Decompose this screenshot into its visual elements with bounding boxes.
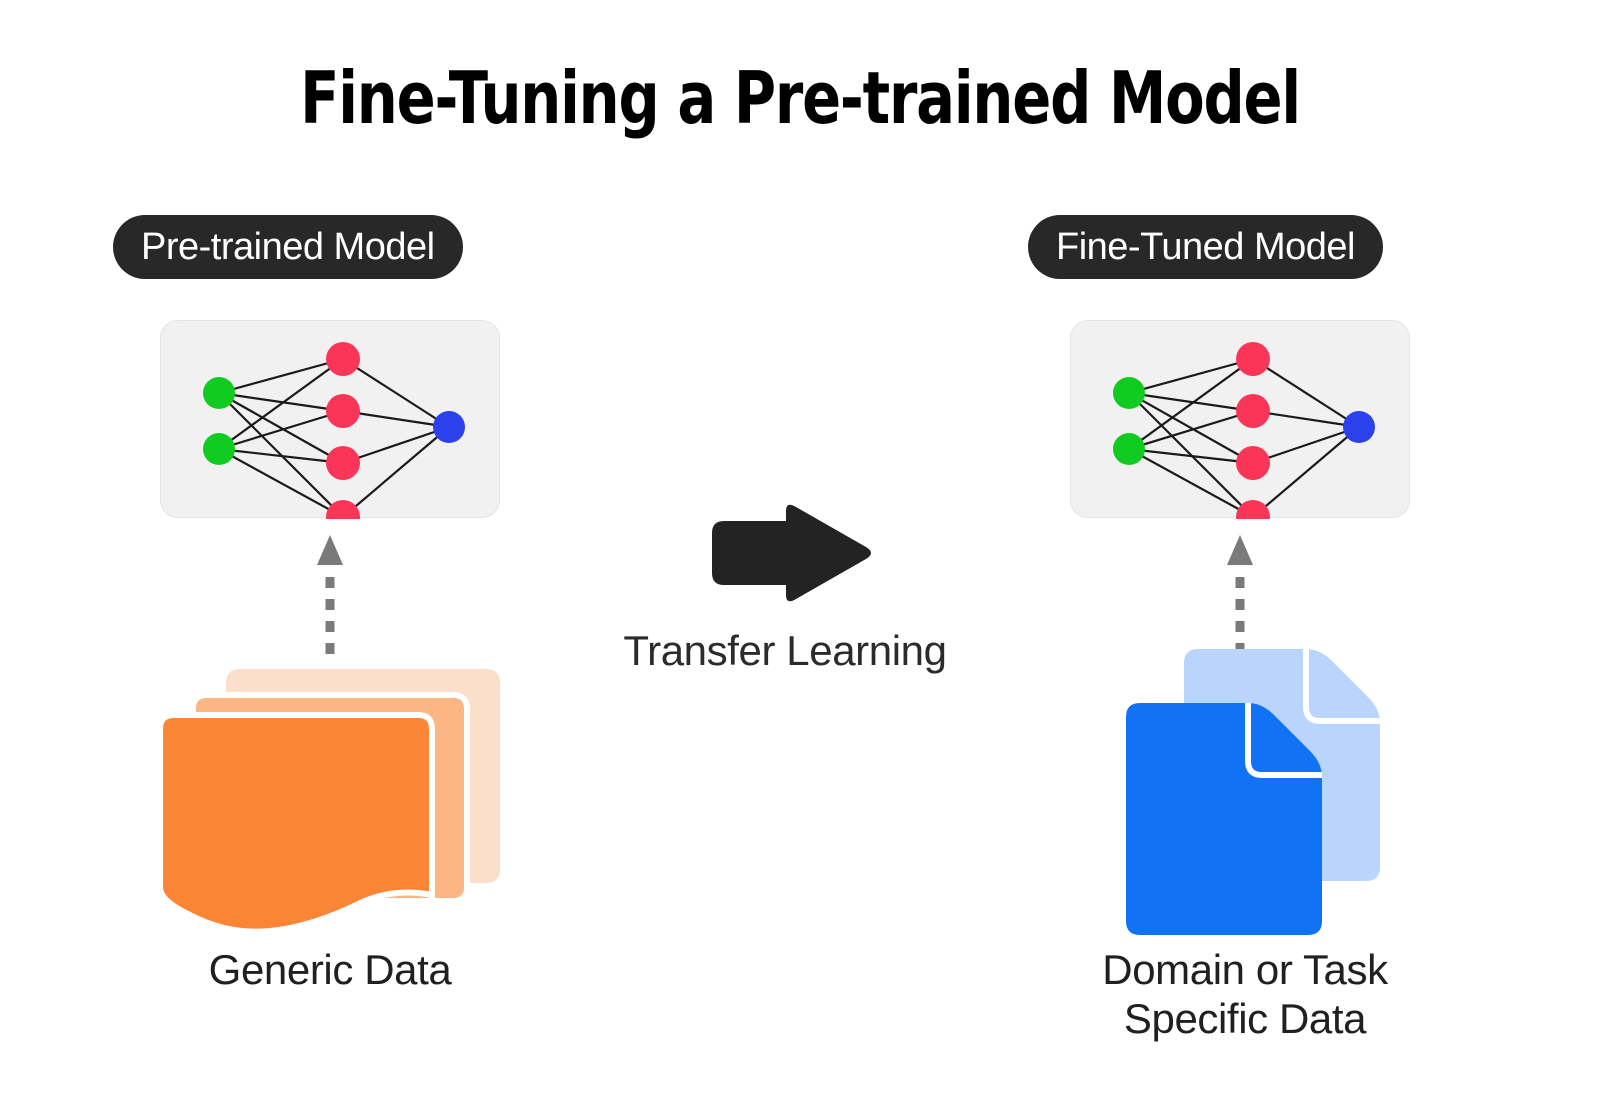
caption-line-1: Domain or Task (1050, 946, 1440, 995)
arrow-right-icon (700, 503, 872, 603)
dotted-arrow-up-glyph (1227, 533, 1253, 663)
input-node (203, 433, 235, 465)
network-input-nodes (1113, 377, 1145, 465)
network-hidden-nodes (326, 342, 360, 519)
dotted-arrow-up-icon-right (1227, 533, 1253, 663)
hidden-node (1236, 500, 1270, 519)
hidden-node (1236, 394, 1270, 428)
pill-label-text: Fine-Tuned Model (1056, 226, 1355, 269)
caption-domain-specific-data: Domain or Task Specific Data (1050, 946, 1440, 1043)
network-input-nodes (203, 377, 235, 465)
diagram-canvas: Fine-Tuning a Pre-trained Model Pre-trai… (0, 0, 1600, 1120)
input-node (203, 377, 235, 409)
generic-data-graphic (160, 665, 500, 935)
hidden-node (1236, 342, 1270, 376)
hidden-node (326, 500, 360, 519)
pill-label-fine-tuned-model: Fine-Tuned Model (1028, 215, 1383, 279)
arrow-shape (712, 505, 871, 602)
hidden-node (326, 342, 360, 376)
pill-label-text: Pre-trained Model (141, 226, 435, 269)
neural-network-diagram (161, 321, 501, 519)
caption-generic-data: Generic Data (140, 946, 520, 995)
stacked-sheets-orange (160, 665, 500, 935)
network-edges (219, 359, 449, 517)
neural-network-card-finetuned (1070, 320, 1410, 518)
caption-line-2: Specific Data (1050, 995, 1440, 1044)
pill-label-pre-trained-model: Pre-trained Model (113, 215, 463, 279)
hidden-node (326, 394, 360, 428)
input-node (1113, 377, 1145, 409)
output-node (433, 411, 465, 443)
document-front (1126, 703, 1322, 935)
output-node (1343, 411, 1375, 443)
hidden-node (326, 446, 360, 480)
dotted-arrow-up-icon-left (317, 533, 343, 663)
transfer-learning-label: Transfer Learning (560, 627, 1010, 675)
network-edges (1129, 359, 1359, 517)
arrowhead (1227, 535, 1253, 565)
input-node (1113, 433, 1145, 465)
arrow-right-glyph (700, 503, 872, 603)
hidden-node (1236, 446, 1270, 480)
arrowhead (317, 535, 343, 565)
page-title: Fine-Tuning a Pre-trained Model (160, 62, 1440, 134)
dotted-arrow-up-glyph (317, 533, 343, 663)
neural-network-card-pretrained (160, 320, 500, 518)
stacked-documents-blue (1110, 645, 1380, 940)
network-hidden-nodes (1236, 342, 1270, 519)
neural-network-diagram (1071, 321, 1411, 519)
domain-data-graphic (1110, 645, 1380, 940)
